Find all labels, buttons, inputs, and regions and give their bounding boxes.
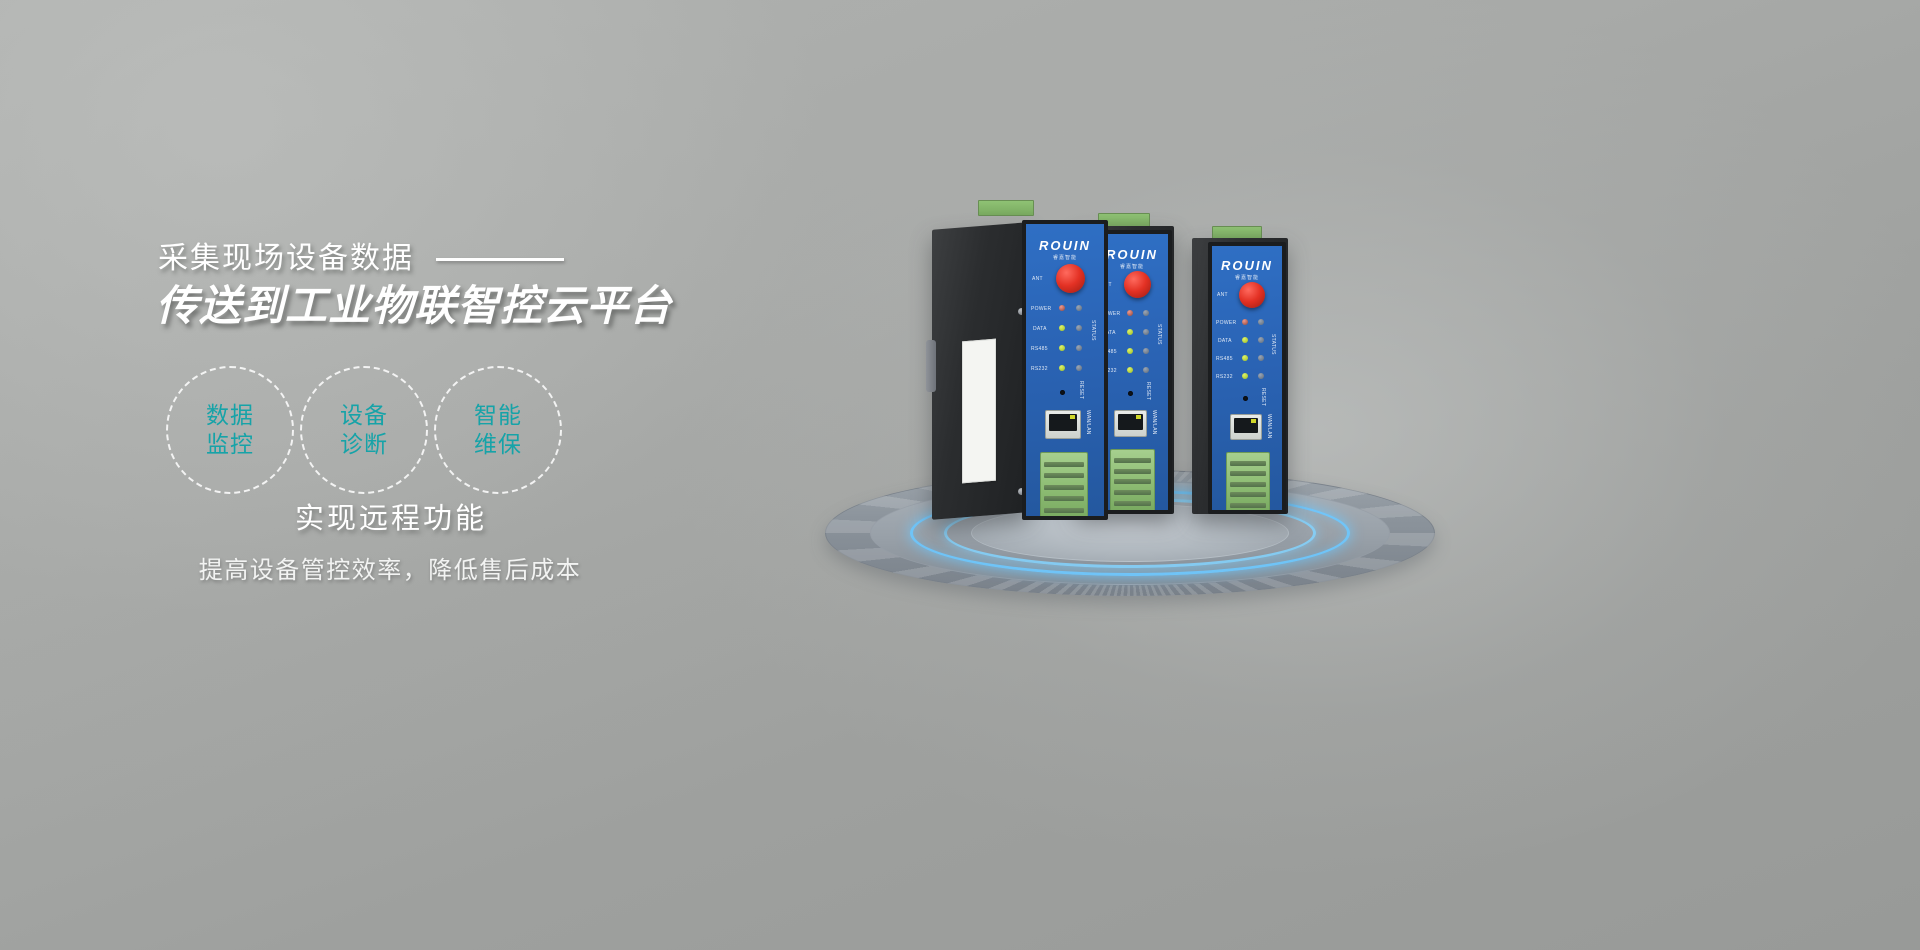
led-label-rs232: RS232 xyxy=(1216,374,1233,380)
led-rs232 xyxy=(1242,373,1248,379)
led-label-rs485: RS485 xyxy=(1031,346,1048,352)
device-front-panel: ROUIN 睿嘉智能 ANT POWER DATA RS485 RS232 ST… xyxy=(1208,242,1286,514)
led-data xyxy=(1127,329,1133,335)
subtitle: 实现远程功能 xyxy=(156,495,626,537)
led-data-aux xyxy=(1258,337,1264,343)
led-label-power: POWER xyxy=(1216,320,1236,326)
kicker-text: 采集现场设备数据 xyxy=(158,244,414,274)
rj45-port xyxy=(1230,414,1262,440)
led-rs232-aux xyxy=(1143,367,1149,373)
led-label-data: DATA xyxy=(1033,326,1047,332)
brand-logo: ROUIN 睿嘉智能 xyxy=(1212,258,1282,281)
kicker-rule xyxy=(436,258,564,261)
reset-button[interactable] xyxy=(1243,396,1248,401)
reset-button[interactable] xyxy=(1128,391,1133,396)
device-front-panel: ROUIN 睿嘉智能 ANT POWER DATA RS485 RS232 ST… xyxy=(1022,220,1108,520)
led-rs232 xyxy=(1059,365,1065,371)
led-label-rs485: RS485 xyxy=(1216,356,1233,362)
feature-circle-device-diagnosis: 设备 诊断 xyxy=(300,366,428,494)
led-power xyxy=(1059,305,1065,311)
status-side-label: STATUS xyxy=(1270,334,1276,355)
reset-label: RESET xyxy=(1078,381,1084,399)
port-label: WAN/LAN xyxy=(1151,410,1157,435)
feature-label-line1: 智能 xyxy=(474,401,522,430)
led-data xyxy=(1242,337,1248,343)
led-label-data: DATA xyxy=(1218,338,1232,344)
kicker-row: 采集现场设备数据 xyxy=(158,244,564,274)
product-scene: ROUIN 睿嘉智能 ANT POWER DATA RS485 RS232 ST… xyxy=(800,190,1500,640)
led-power xyxy=(1242,319,1248,325)
feature-circle-data-monitoring: 数据 监控 xyxy=(166,366,294,494)
banner-stage: 采集现场设备数据 传送到工业物联智控云平台 数据 监控 设备 诊断 智能 维保 … xyxy=(0,0,1920,950)
led-rs485 xyxy=(1059,345,1065,351)
brand-sublabel: 睿嘉智能 xyxy=(1212,274,1282,281)
led-rs485 xyxy=(1242,355,1248,361)
feature-label-line1: 设备 xyxy=(340,401,388,430)
feature-label-line2: 诊断 xyxy=(340,430,388,459)
status-side-label: STATUS xyxy=(1090,320,1096,341)
led-rs232 xyxy=(1127,367,1133,373)
led-rs232-aux xyxy=(1076,365,1082,371)
antenna-connector xyxy=(1124,271,1151,298)
led-rs485-aux xyxy=(1076,345,1082,351)
led-data xyxy=(1059,325,1065,331)
port-label: WAN/LAN xyxy=(1085,410,1091,435)
feature-circle-smart-maintenance: 智能 维保 xyxy=(434,366,562,494)
led-label-rs232: RS232 xyxy=(1031,366,1048,372)
feature-label-line2: 监控 xyxy=(206,430,254,459)
reset-label: RESET xyxy=(1260,388,1266,406)
led-rs485 xyxy=(1127,348,1133,354)
brand-logo: ROUIN 睿嘉智能 xyxy=(1026,238,1104,261)
led-label-power: POWER xyxy=(1031,306,1051,312)
rj45-port xyxy=(1045,410,1081,439)
copy-block: 采集现场设备数据 传送到工业物联智控云平台 数据 监控 设备 诊断 智能 维保 … xyxy=(0,0,760,950)
antenna-connector xyxy=(1239,282,1265,308)
terminal-block xyxy=(1040,452,1088,520)
description: 提高设备管控效率，降低售后成本 xyxy=(150,550,630,585)
led-power-aux xyxy=(1143,310,1149,316)
feature-label-line1: 数据 xyxy=(206,401,254,430)
led-power-aux xyxy=(1076,305,1082,311)
feature-label-line2: 维保 xyxy=(474,430,522,459)
terminal-top-connector xyxy=(978,200,1034,216)
led-data-aux xyxy=(1143,329,1149,335)
terminal-block xyxy=(1226,452,1270,514)
led-rs232-aux xyxy=(1258,373,1264,379)
reset-button[interactable] xyxy=(1060,390,1065,395)
device-left: ROUIN 睿嘉智能 ANT POWER DATA RS485 RS232 ST… xyxy=(932,212,1122,532)
din-rail-clip xyxy=(926,340,936,392)
led-power xyxy=(1127,310,1133,316)
led-rs485-aux xyxy=(1143,348,1149,354)
antenna-connector xyxy=(1056,264,1085,293)
device-right: ROUIN 睿嘉智能 ANT POWER DATA RS485 RS232 ST… xyxy=(1192,238,1312,528)
feature-circle-list: 数据 监控 设备 诊断 智能 维保 xyxy=(166,366,562,494)
device-side-sticker xyxy=(962,339,996,484)
antenna-label: ANT xyxy=(1217,292,1228,298)
led-rs485-aux xyxy=(1258,355,1264,361)
reset-label: RESET xyxy=(1145,382,1151,400)
brand-sublabel: 睿嘉智能 xyxy=(1026,254,1104,261)
led-data-aux xyxy=(1076,325,1082,331)
led-power-aux xyxy=(1258,319,1264,325)
status-side-label: STATUS xyxy=(1156,324,1162,345)
page-title: 传送到工业物联智控云平台 xyxy=(156,283,672,329)
antenna-label: ANT xyxy=(1032,276,1043,282)
port-label: WAN/LAN xyxy=(1266,414,1272,439)
